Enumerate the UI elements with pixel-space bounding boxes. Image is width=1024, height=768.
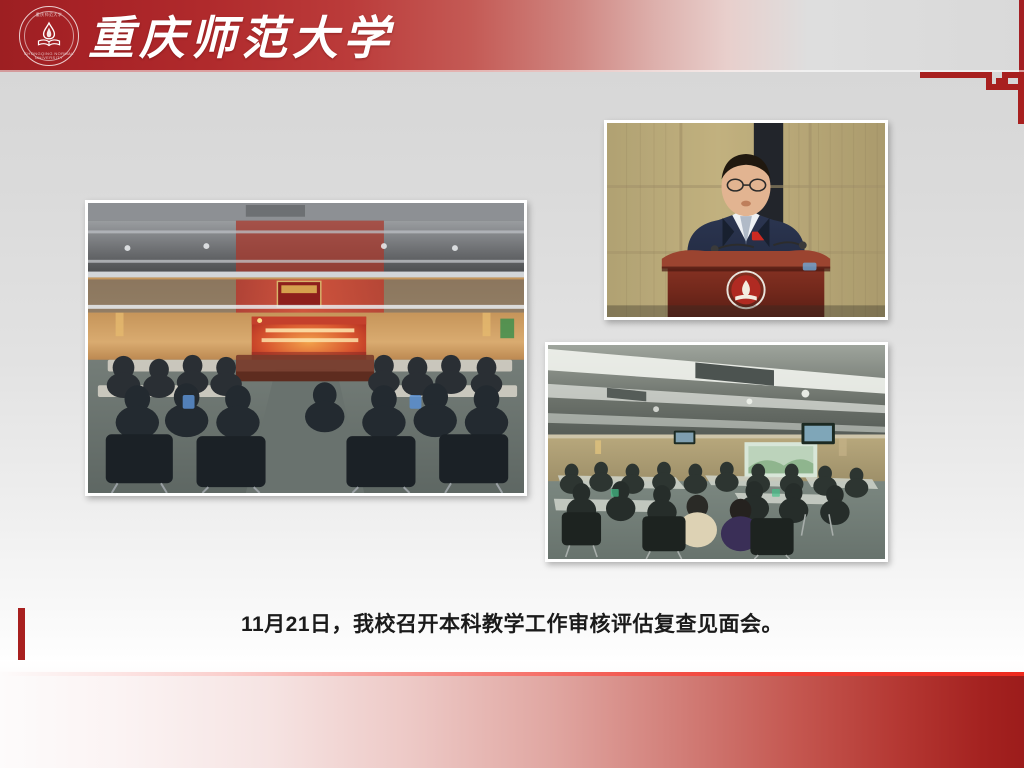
slide-caption: 11月21日，我校召开本科教学工作审核评估复查见面会。 <box>0 608 1024 638</box>
corner-ornament-top-right-icon <box>920 72 1024 124</box>
photo-content <box>548 345 885 559</box>
university-seal: 重庆师范大学 CHONGQING NORMAL UNIVERSITY <box>19 6 79 66</box>
photo-conference-room-audience <box>545 342 888 562</box>
photo-speaker-at-podium <box>604 120 888 320</box>
header-right-edge <box>1019 0 1024 72</box>
seal-flame-book-icon <box>34 20 64 50</box>
footer-accent-line <box>0 672 1024 676</box>
photo-content <box>607 123 885 317</box>
seal-ring-text-bottom: CHONGQING NORMAL UNIVERSITY <box>19 52 79 60</box>
presentation-slide: 重庆师范大学 CHONGQING NORMAL UNIVERSITY 重庆师范大… <box>0 0 1024 768</box>
page-title: 重庆师范大学 <box>88 4 394 66</box>
slide-footer-bar <box>0 672 1024 768</box>
photo-conference-hall-wide <box>85 200 527 496</box>
slide-header-bar: 重庆师范大学 CHONGQING NORMAL UNIVERSITY 重庆师范大… <box>0 0 1024 72</box>
header-divider <box>0 70 1024 72</box>
seal-ring-text-top: 重庆师范大学 <box>19 13 79 17</box>
photo-content <box>88 203 524 493</box>
